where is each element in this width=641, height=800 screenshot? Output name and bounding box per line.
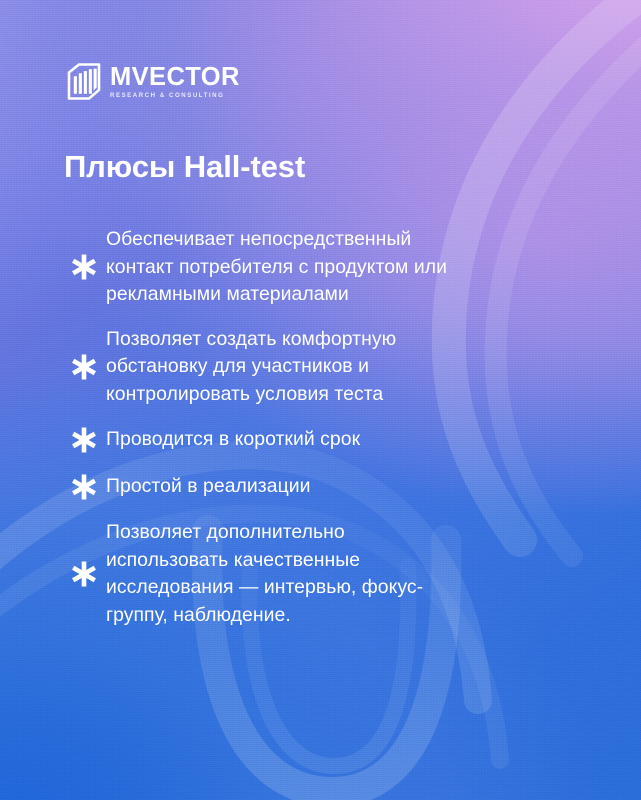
list-item-line: исследования — интервью, фокус- bbox=[106, 574, 423, 602]
list-item-line: Проводится в короткий срок bbox=[106, 426, 360, 454]
list-item-line: группу, наблюдение. bbox=[106, 602, 423, 630]
mvector-hexagon-bars-icon bbox=[67, 63, 101, 100]
list-item-text: Позволяет дополнительно использовать кач… bbox=[106, 519, 423, 629]
list-item-line: контакт потребителя с продуктом или bbox=[106, 254, 447, 282]
asterisk-icon bbox=[62, 252, 106, 282]
list-item-text: Простой в реализации bbox=[106, 473, 311, 501]
list-item: Позволяет дополнительно использовать кач… bbox=[62, 519, 582, 629]
list-item-line: Простой в реализации bbox=[106, 473, 311, 501]
list-item-line: обстановку для участников и bbox=[106, 353, 396, 381]
asterisk-icon bbox=[62, 352, 106, 382]
brand-wordmark: MVECTOR bbox=[110, 64, 240, 90]
list-item: Обеспечивает непосредственный контакт по… bbox=[62, 226, 582, 309]
list-item: Проводится в короткий срок bbox=[62, 425, 582, 455]
benefits-list: Обеспечивает непосредственный контакт по… bbox=[62, 226, 582, 629]
list-item: Простой в реализации bbox=[62, 472, 582, 502]
list-item-text: Проводится в короткий срок bbox=[106, 426, 360, 454]
asterisk-icon bbox=[62, 472, 106, 502]
asterisk-icon bbox=[62, 559, 106, 589]
list-item-line: Позволяет дополнительно bbox=[106, 519, 423, 547]
list-item-text: Обеспечивает непосредственный контакт по… bbox=[106, 226, 447, 309]
asterisk-icon bbox=[62, 425, 106, 455]
page-title: Плюсы Hall-test bbox=[64, 148, 305, 186]
brand-logo: MVECTOR RESEARCH & CONSULTING bbox=[67, 63, 240, 100]
list-item-line: использовать качественные bbox=[106, 547, 423, 575]
slide-canvas: MVECTOR RESEARCH & CONSULTING Плюсы Hall… bbox=[0, 0, 641, 800]
list-item: Позволяет создать комфортную обстановку … bbox=[62, 326, 582, 409]
list-item-line: контролировать условия теста bbox=[106, 381, 396, 409]
list-item-text: Позволяет создать комфортную обстановку … bbox=[106, 326, 396, 409]
list-item-line: Позволяет создать комфортную bbox=[106, 326, 396, 354]
list-item-line: Обеспечивает непосредственный bbox=[106, 226, 447, 254]
list-item-line: рекламными материалами bbox=[106, 281, 447, 309]
brand-tagline: RESEARCH & CONSULTING bbox=[110, 91, 240, 100]
